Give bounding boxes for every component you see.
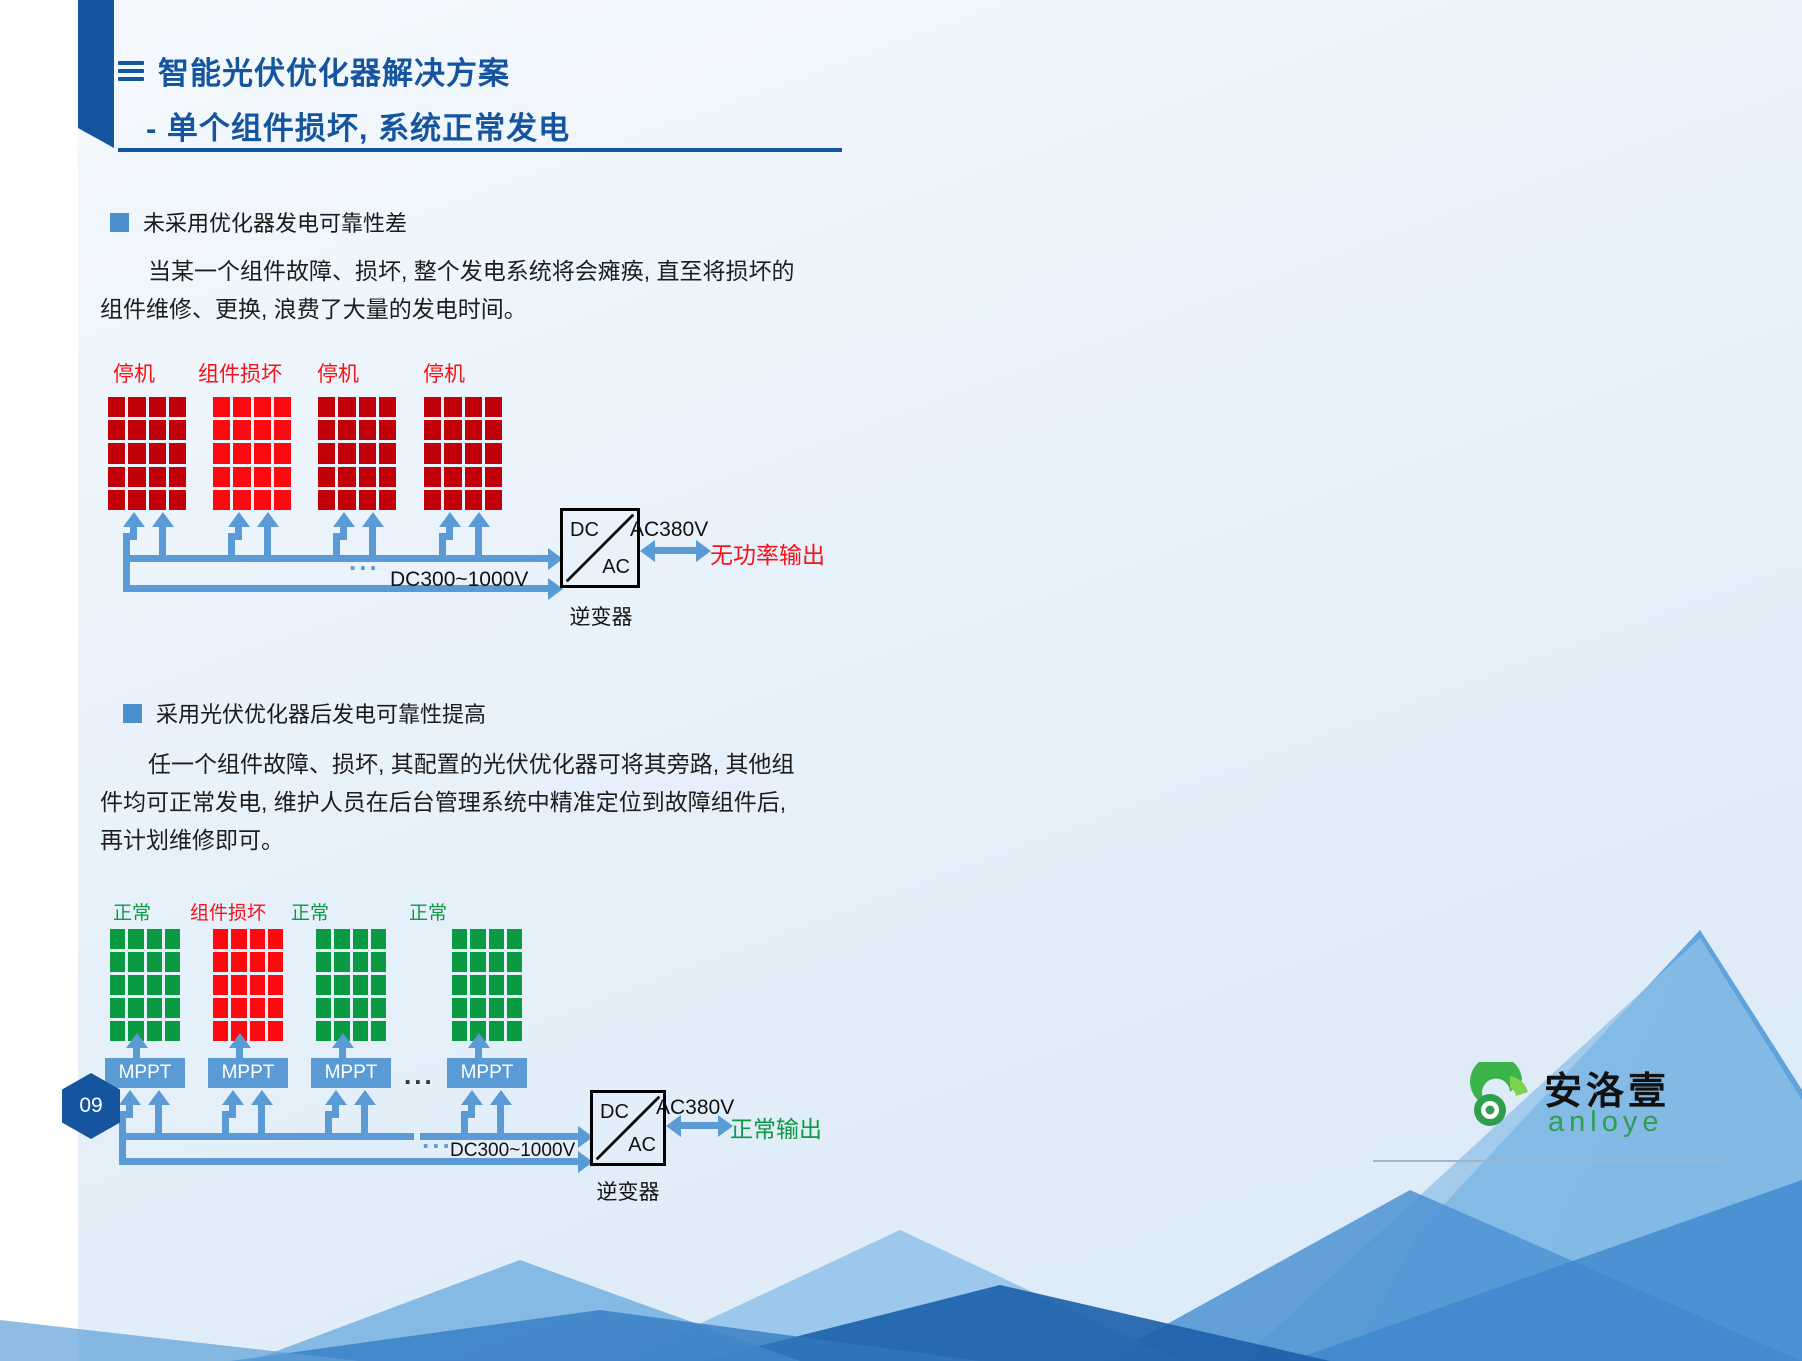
- section2-paragraph-line-2: 件均可正常发电, 维护人员在后台管理系统中精准定位到故障组件后,: [100, 783, 800, 821]
- section1-panel-label-3: 停机: [290, 358, 386, 388]
- slide-page: 智能光伏优化器解决方案 - 单个组件损坏, 系统正常发电 未采用优化器发电可靠性…: [0, 0, 1802, 1361]
- logo-english-name: anloye: [1548, 1106, 1663, 1139]
- square-bullet-icon: [123, 704, 142, 723]
- section1-inverter-caption: 逆变器: [553, 601, 649, 631]
- section1-heading-label: 未采用优化器发电可靠性差: [143, 206, 407, 238]
- header-block: 智能光伏优化器解决方案 - 单个组件损坏, 系统正常发电: [118, 48, 918, 148]
- section1-paragraph-line-2: 组件维修、更换, 浪费了大量的发电时间。: [100, 290, 800, 328]
- section2-panel-label-4: 正常: [390, 898, 466, 925]
- square-bullet-icon: [110, 213, 129, 232]
- page-subtitle: - 单个组件损坏, 系统正常发电: [146, 103, 918, 148]
- section2-panel-label-3: 正常: [272, 898, 348, 925]
- company-logo: 安洛壹 anloye: [1470, 1058, 1730, 1150]
- section1-bus-dots: ...: [349, 548, 380, 574]
- section1-inverter-dc-label: DC: [570, 519, 599, 542]
- logo-mark-icon: [1470, 1062, 1542, 1134]
- section1-solar-panel-3: [318, 397, 396, 510]
- section2-heading-label: 采用光伏优化器后发电可靠性提高: [156, 697, 486, 729]
- section2-paragraph-line-1: 任一个组件故障、损坏, 其配置的光伏优化器可将其旁路, 其他组: [100, 745, 800, 783]
- section1-paragraph: 当某一个组件故障、损坏, 整个发电系统将会瘫痪, 直至将损坏的 组件维修、更换,…: [100, 252, 800, 328]
- section1-inverter-box: DC AC: [560, 508, 640, 588]
- section1-output-status: 无功率输出: [710, 536, 825, 570]
- section1-solar-panel-2: [213, 397, 291, 510]
- section2-heading: 采用光伏优化器后发电可靠性提高: [123, 697, 486, 729]
- section2-paragraph-line-3: 再计划维修即可。: [100, 821, 800, 859]
- section1-panel-label-2: 组件损坏: [185, 358, 295, 388]
- section1-ac-voltage-label: AC380V: [630, 518, 708, 542]
- section1-panel-label-1: 停机: [86, 358, 182, 388]
- header-divider: [118, 148, 842, 152]
- section1-solar-panel-4: [424, 397, 502, 510]
- section1-inverter-ac-label: AC: [602, 556, 630, 579]
- section1-heading: 未采用优化器发电可靠性差: [110, 206, 407, 238]
- section2-paragraph: 任一个组件故障、损坏, 其配置的光伏优化器可将其旁路, 其他组 件均可正常发电,…: [100, 745, 800, 859]
- logo-underline: [1373, 1160, 1725, 1162]
- page-title: 智能光伏优化器解决方案: [158, 48, 510, 93]
- hamburger-icon: [118, 61, 144, 81]
- section2-panel-label-1: 正常: [94, 898, 170, 925]
- section1-panel-label-4: 停机: [396, 358, 492, 388]
- section1-dc-voltage-label: DC300~1000V: [390, 568, 528, 592]
- section1-solar-panel-1: [108, 397, 186, 510]
- header-flag-shape: [78, 0, 114, 148]
- section2-panel-label-2: 组件损坏: [180, 898, 276, 925]
- section1-paragraph-line-1: 当某一个组件故障、损坏, 整个发电系统将会瘫痪, 直至将损坏的: [100, 252, 800, 290]
